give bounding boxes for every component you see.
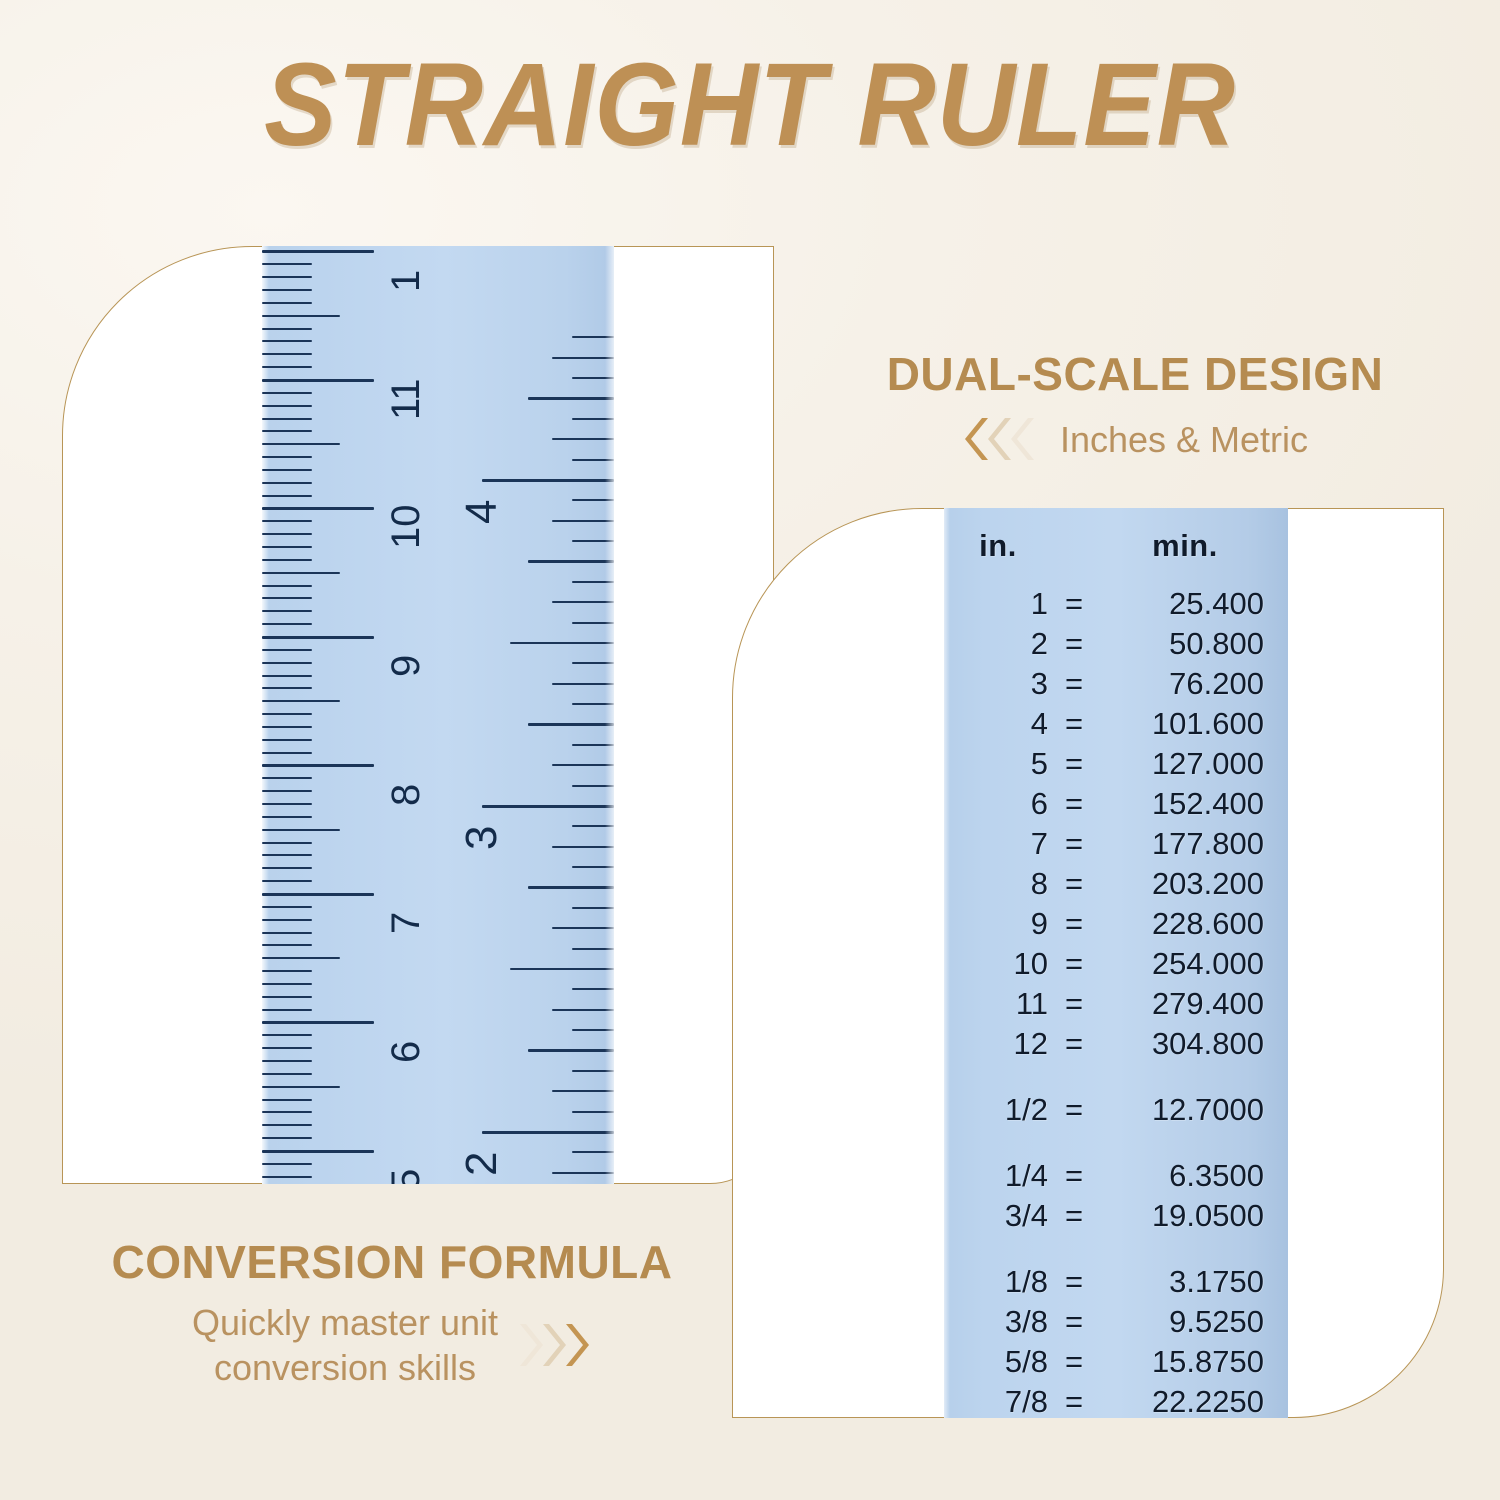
- ruler-tick-metric: [262, 1099, 312, 1101]
- equals-sign: =: [1052, 628, 1096, 659]
- cell-inches: 5: [944, 748, 1052, 779]
- ruler-label-inch: 3: [460, 826, 504, 850]
- ruler-tick-imperial: [572, 907, 614, 909]
- equals-sign: =: [1052, 1266, 1096, 1297]
- ruler-tick-imperial: [572, 1070, 614, 1072]
- chevron-left-icon-group: [962, 416, 1034, 462]
- ruler-tick-imperial: [572, 459, 614, 461]
- cell-millimeters: 6.3500: [1096, 1160, 1274, 1191]
- table-row: 3/8=9.5250: [944, 1306, 1288, 1346]
- ruler-tick-metric: [262, 482, 312, 484]
- equals-sign: =: [1052, 1200, 1096, 1231]
- cell-millimeters: 12.7000: [1096, 1094, 1274, 1125]
- ruler-tick-imperial: [482, 805, 614, 808]
- ruler-label-inch: 2: [460, 1152, 504, 1176]
- ruler-tick-metric: [262, 816, 312, 818]
- ruler-tick-metric: [262, 726, 312, 728]
- cell-millimeters: 15.8750: [1096, 1346, 1274, 1377]
- ruler-tick-imperial: [572, 1151, 614, 1153]
- cell-inches: 3/8: [944, 1306, 1052, 1337]
- equals-sign: =: [1052, 1028, 1096, 1059]
- equals-sign: =: [1052, 788, 1096, 819]
- ruler-tick-metric: [262, 829, 340, 831]
- ruler-tick-metric: [262, 520, 312, 522]
- table-row: 7=177.800: [944, 828, 1288, 868]
- ruler-tick-metric: [262, 597, 312, 599]
- table-row: 1=25.400: [944, 588, 1288, 628]
- table-row: 9=228.600: [944, 908, 1288, 948]
- conversion-table-image: in. min. 1=25.4002=50.8003=76.2004=101.6…: [944, 508, 1288, 1418]
- table-group-separator: [944, 1068, 1288, 1094]
- cell-inches: 6: [944, 788, 1052, 819]
- equals-sign: =: [1052, 828, 1096, 859]
- ruler-label-cm: 8: [386, 783, 426, 805]
- ruler-tick-imperial: [572, 418, 614, 420]
- cell-inches: 8: [944, 868, 1052, 899]
- ruler-tick-metric: [262, 777, 312, 779]
- conversion-formula-subtitle: Quickly master unit conversion skills: [192, 1300, 498, 1390]
- equals-sign: =: [1052, 1386, 1096, 1417]
- ruler-tick-imperial: [482, 479, 614, 482]
- ruler-tick-metric: [262, 610, 312, 612]
- ruler-tick-imperial: [572, 581, 614, 583]
- cell-millimeters: 50.800: [1096, 628, 1274, 659]
- cell-inches: 12: [944, 1028, 1052, 1059]
- ruler-tick-imperial: [510, 642, 614, 645]
- ruler-tick-imperial: [552, 1172, 614, 1174]
- table-row: 1/8=3.1750: [944, 1266, 1288, 1306]
- cell-millimeters: 25.400: [1096, 588, 1274, 619]
- ruler-tick-imperial: [572, 377, 614, 379]
- ruler-tick-metric: [262, 443, 340, 445]
- table-header-mm: min.: [1096, 530, 1274, 561]
- table-row: 2=50.800: [944, 628, 1288, 668]
- table-header-row: in. min.: [944, 530, 1288, 588]
- ruler-tick-imperial: [552, 1009, 614, 1011]
- ruler-tick-metric: [262, 379, 374, 382]
- dual-scale-subtitle: Inches & Metric: [1060, 417, 1308, 462]
- equals-sign: =: [1052, 1094, 1096, 1125]
- cell-inches: 5/8: [944, 1346, 1052, 1377]
- ruler-tick-imperial: [552, 764, 614, 766]
- ruler-tick-metric: [262, 957, 340, 959]
- ruler-tick-imperial: [572, 662, 614, 664]
- conversion-subtitle-line2: conversion skills: [214, 1347, 476, 1388]
- ruler-tick-metric: [262, 1176, 312, 1178]
- ruler-tick-metric: [262, 662, 312, 664]
- ruler-tick-metric: [262, 315, 340, 317]
- ruler-tick-metric: [262, 636, 374, 639]
- equals-sign: =: [1052, 748, 1096, 779]
- ruler-tick-metric: [262, 649, 312, 651]
- cell-inches: 7/8: [944, 1386, 1052, 1417]
- ruler-tick-imperial: [552, 601, 614, 603]
- equals-sign: =: [1052, 588, 1096, 619]
- dual-scale-title: DUAL-SCALE DESIGN: [830, 350, 1440, 398]
- equals-sign: =: [1052, 1346, 1096, 1377]
- cell-millimeters: 304.800: [1096, 1028, 1274, 1059]
- ruler-tick-metric: [262, 366, 312, 368]
- ruler-label-cm: 11: [386, 378, 426, 420]
- cell-inches: 9: [944, 908, 1052, 939]
- ruler-tick-metric: [262, 392, 312, 394]
- ruler-tick-metric: [262, 1150, 374, 1153]
- cell-millimeters: 279.400: [1096, 988, 1274, 1019]
- equals-sign: =: [1052, 1160, 1096, 1191]
- ruler-tick-metric: [262, 507, 374, 510]
- ruler-tick-metric: [262, 1086, 340, 1088]
- ruler-tick-metric: [262, 996, 312, 998]
- ruler-tick-metric: [262, 1021, 374, 1024]
- table-row: 1/4=6.3500: [944, 1160, 1288, 1200]
- ruler-tick-metric: [262, 675, 312, 677]
- ruler-tick-metric: [262, 880, 312, 882]
- cell-inches: 7: [944, 828, 1052, 859]
- ruler-tick-imperial: [572, 622, 614, 624]
- feature-dual-scale: DUAL-SCALE DESIGN Inches & Metric: [830, 350, 1440, 462]
- ruler-tick-imperial: [572, 1029, 614, 1031]
- ruler-tick-metric: [262, 854, 312, 856]
- ruler-tick-imperial: [552, 520, 614, 522]
- ruler-tick-metric: [262, 405, 312, 407]
- feature-conversion-formula: CONVERSION FORMULA Quickly master unit c…: [52, 1238, 732, 1390]
- ruler-tick-imperial: [552, 927, 614, 929]
- cell-inches: 1/2: [944, 1094, 1052, 1125]
- ruler-tick-imperial: [572, 825, 614, 827]
- chevron-left-icon: [1008, 416, 1034, 462]
- table-header-inches: in.: [944, 530, 1052, 561]
- ruler-tick-metric: [262, 764, 374, 767]
- table-row: 6=152.400: [944, 788, 1288, 828]
- ruler-tick-metric: [262, 495, 312, 497]
- ruler-tick-metric: [262, 418, 312, 420]
- ruler-tick-metric: [262, 893, 374, 896]
- cell-millimeters: 177.800: [1096, 828, 1274, 859]
- ruler-tick-metric: [262, 276, 312, 278]
- chevron-right-icon: [566, 1322, 592, 1368]
- ruler-tick-metric: [262, 1034, 312, 1036]
- ruler-tick-metric: [262, 803, 312, 805]
- ruler-label-cm: 5: [386, 1169, 426, 1184]
- ruler-tick-imperial: [572, 1111, 614, 1113]
- ruler-tick-metric: [262, 1047, 312, 1049]
- ruler-tick-metric: [262, 623, 312, 625]
- ruler-tick-imperial: [572, 499, 614, 501]
- cell-millimeters: 127.000: [1096, 748, 1274, 779]
- ruler-tick-metric: [262, 1163, 312, 1165]
- ruler-tick-metric: [262, 469, 312, 471]
- cell-millimeters: 76.200: [1096, 668, 1274, 699]
- ruler-tick-imperial: [552, 1090, 614, 1092]
- ruler-image: 4321111098765: [262, 246, 614, 1184]
- conversion-formula-title: CONVERSION FORMULA: [52, 1238, 732, 1286]
- ruler-tick-metric: [262, 932, 312, 934]
- ruler-tick-metric: [262, 1009, 312, 1011]
- table-group-separator: [944, 1134, 1288, 1160]
- ruler-tick-metric: [262, 559, 312, 561]
- ruler-tick-metric: [262, 842, 312, 844]
- ruler-tick-imperial: [482, 1131, 614, 1134]
- ruler-tick-metric: [262, 572, 340, 574]
- ruler-tick-imperial: [572, 540, 614, 542]
- ruler-tick-metric: [262, 456, 312, 458]
- ruler-tick-imperial: [552, 357, 614, 359]
- table-row: 3/4=19.0500: [944, 1200, 1288, 1240]
- ruler-tick-metric: [262, 739, 312, 741]
- ruler-tick-metric: [262, 289, 312, 291]
- cell-inches: 3: [944, 668, 1052, 699]
- cell-millimeters: 152.400: [1096, 788, 1274, 819]
- table-group-separator: [944, 1240, 1288, 1266]
- ruler-tick-imperial: [572, 866, 614, 868]
- ruler-label-cm: 9: [386, 655, 426, 677]
- equals-sign: =: [1052, 1306, 1096, 1337]
- chevron-right-icon-group: [520, 1322, 592, 1368]
- ruler-tick-imperial: [510, 968, 614, 971]
- ruler-tick-metric: [262, 263, 312, 265]
- equals-sign: =: [1052, 708, 1096, 739]
- cell-millimeters: 3.1750: [1096, 1266, 1274, 1297]
- ruler-label-cm: 6: [386, 1040, 426, 1062]
- ruler-label-cm: 1: [386, 269, 426, 291]
- table-row: 12=304.800: [944, 1028, 1288, 1068]
- ruler-tick-metric: [262, 1137, 312, 1139]
- cell-inches: 4: [944, 708, 1052, 739]
- table-row: 7/8=22.2250: [944, 1386, 1288, 1418]
- cell-inches: 1: [944, 588, 1052, 619]
- ruler-tick-imperial: [572, 785, 614, 787]
- ruler-tick-imperial: [572, 988, 614, 990]
- ruler-tick-imperial: [528, 886, 614, 888]
- cell-inches: 1/8: [944, 1266, 1052, 1297]
- cell-inches: 10: [944, 948, 1052, 979]
- ruler-tick-metric: [262, 906, 312, 908]
- ruler-tick-imperial: [572, 744, 614, 746]
- equals-sign: =: [1052, 948, 1096, 979]
- ruler-tick-metric: [262, 867, 312, 869]
- ruler-tick-metric: [262, 713, 312, 715]
- ruler-tick-metric: [262, 430, 312, 432]
- ruler-tick-metric: [262, 1073, 312, 1075]
- cell-inches: 2: [944, 628, 1052, 659]
- equals-sign: =: [1052, 988, 1096, 1019]
- ruler-tick-metric: [262, 700, 340, 702]
- cell-millimeters: 101.600: [1096, 708, 1274, 739]
- ruler-tick-metric: [262, 1060, 312, 1062]
- table-row: 1/2=12.7000: [944, 1094, 1288, 1134]
- table-row: 11=279.400: [944, 988, 1288, 1028]
- ruler-tick-imperial: [552, 683, 614, 685]
- ruler-label-inch: 4: [460, 500, 504, 524]
- cell-inches: 11: [944, 988, 1052, 1019]
- ruler-tick-metric: [262, 752, 312, 754]
- ruler-tick-imperial: [552, 846, 614, 848]
- page-title: STRAIGHT RULER: [60, 46, 1440, 164]
- ruler-tick-imperial: [528, 1049, 614, 1051]
- ruler-tick-metric: [262, 302, 312, 304]
- ruler-tick-imperial: [528, 397, 614, 399]
- ruler-tick-imperial: [572, 336, 614, 338]
- ruler-tick-metric: [262, 970, 312, 972]
- cell-millimeters: 9.5250: [1096, 1306, 1274, 1337]
- ruler-label-cm: 7: [386, 912, 426, 934]
- cell-millimeters: 228.600: [1096, 908, 1274, 939]
- ruler-tick-metric: [262, 919, 312, 921]
- ruler-tick-imperial: [572, 948, 614, 950]
- equals-sign: =: [1052, 668, 1096, 699]
- equals-sign: =: [1052, 868, 1096, 899]
- ruler-tick-imperial: [528, 560, 614, 562]
- ruler-label-cm: 10: [386, 504, 426, 549]
- ruler-tick-metric: [262, 353, 312, 355]
- ruler-tick-metric: [262, 250, 374, 253]
- ruler-tick-imperial: [528, 723, 614, 725]
- cell-millimeters: 22.2250: [1096, 1386, 1274, 1417]
- ruler-tick-metric: [262, 328, 312, 330]
- cell-inches: 3/4: [944, 1200, 1052, 1231]
- ruler-tick-metric: [262, 1124, 312, 1126]
- ruler-tick-metric: [262, 340, 312, 342]
- ruler-tick-imperial: [552, 438, 614, 440]
- table-row: 10=254.000: [944, 948, 1288, 988]
- ruler-tick-metric: [262, 1111, 312, 1113]
- ruler-tick-metric: [262, 533, 312, 535]
- cell-millimeters: 19.0500: [1096, 1200, 1274, 1231]
- table-row: 4=101.600: [944, 708, 1288, 748]
- cell-inches: 1/4: [944, 1160, 1052, 1191]
- table-row: 5=127.000: [944, 748, 1288, 788]
- ruler-tick-metric: [262, 585, 312, 587]
- cell-millimeters: 254.000: [1096, 948, 1274, 979]
- table-row: 8=203.200: [944, 868, 1288, 908]
- ruler-tick-metric: [262, 944, 312, 946]
- equals-sign: =: [1052, 908, 1096, 939]
- ruler-tick-metric: [262, 687, 312, 689]
- ruler-tick-metric: [262, 983, 312, 985]
- cell-millimeters: 203.200: [1096, 868, 1274, 899]
- ruler-tick-metric: [262, 546, 312, 548]
- table-row: 3=76.200: [944, 668, 1288, 708]
- ruler-tick-imperial: [572, 703, 614, 705]
- ruler-tick-metric: [262, 790, 312, 792]
- conversion-subtitle-line1: Quickly master unit: [192, 1302, 498, 1343]
- table-row: 5/8=15.8750: [944, 1346, 1288, 1386]
